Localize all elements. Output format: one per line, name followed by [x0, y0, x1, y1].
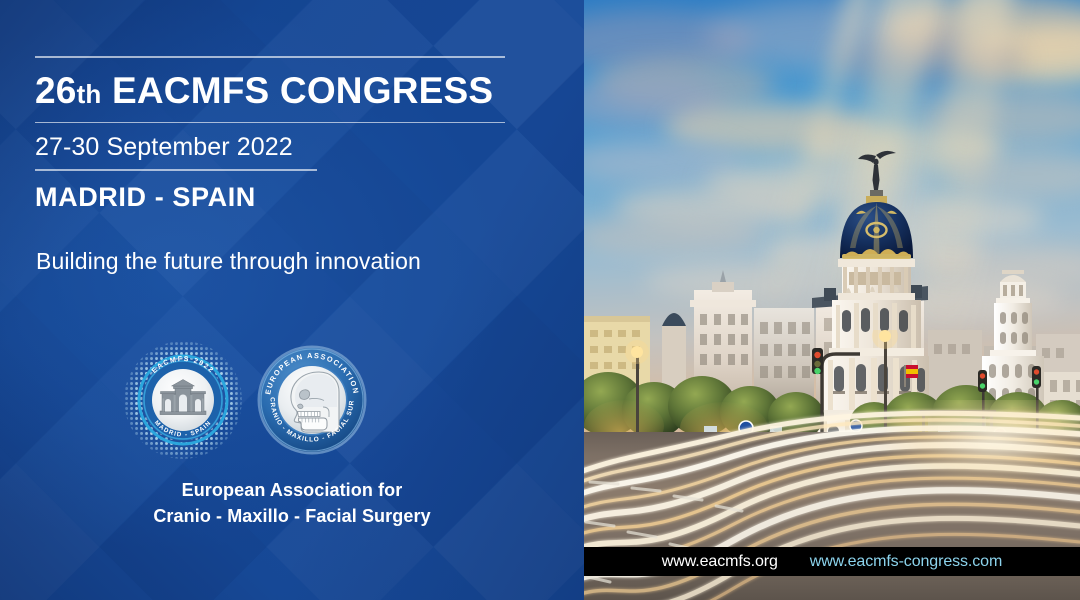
association-name-line2: Cranio - Maxillo - Facial Surgery — [0, 504, 584, 530]
congress-dates: 27-30 September 2022 — [35, 123, 505, 169]
congress-banner: 26th EACMFS CONGRESS 27-30 September 202… — [0, 0, 1080, 600]
logo-row: EACMFS 2022 MADRID - SPAIN — [124, 341, 384, 459]
title-ordinal: th — [77, 79, 102, 109]
congress-location: MADRID - SPAIN — [35, 171, 505, 211]
congress-url[interactable]: www.eacmfs-congress.com — [810, 553, 1002, 571]
title-main: EACMFS CONGRESS — [102, 70, 494, 111]
url-bar: www.eacmfs.org www.eacmfs-congress.com — [584, 547, 1080, 576]
eacmfs-association-logo: EUROPEAN ASSOCIATION FOR CRANIO - MAXILL… — [257, 345, 367, 455]
association-name-line1: European Association for — [0, 478, 584, 504]
left-info-panel: 26th EACMFS CONGRESS 27-30 September 202… — [0, 0, 584, 600]
title-number: 26 — [35, 70, 77, 111]
madrid-gran-via-photo: www.eacmfs.org www.eacmfs-congress.com — [584, 0, 1080, 600]
congress-tagline: Building the future through innovation — [36, 248, 421, 275]
page-title: 26th EACMFS CONGRESS — [35, 58, 505, 122]
association-url[interactable]: www.eacmfs.org — [662, 553, 778, 571]
eacmfs-madrid-2022-logo: EACMFS 2022 MADRID - SPAIN — [124, 341, 242, 459]
headline-block: 26th EACMFS CONGRESS 27-30 September 202… — [35, 56, 505, 211]
association-name: European Association for Cranio - Maxill… — [0, 478, 584, 529]
